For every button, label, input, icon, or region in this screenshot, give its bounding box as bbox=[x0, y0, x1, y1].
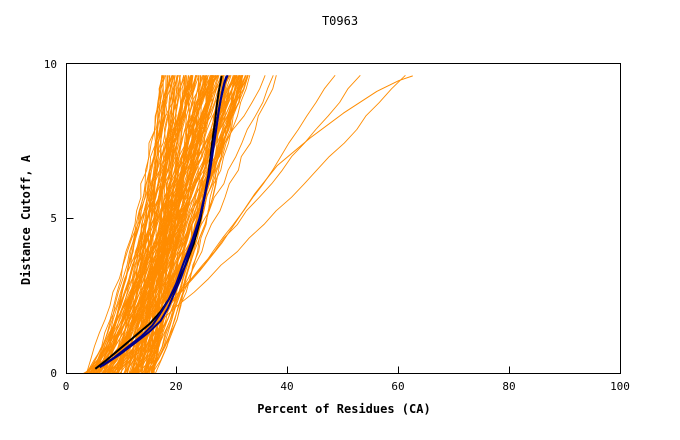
x-tick-0: 0 bbox=[63, 380, 70, 393]
y-tick-0: 0 bbox=[50, 367, 57, 380]
x-tick-40: 40 bbox=[280, 380, 293, 393]
x-tick-20: 20 bbox=[169, 380, 182, 393]
background-series-group bbox=[83, 75, 413, 373]
chart-root: T0963 Distance Cutoff, A Percent of Resi… bbox=[0, 0, 680, 440]
y-axis-label: Distance Cutoff, A bbox=[19, 154, 33, 285]
y-tick-5: 5 bbox=[50, 212, 57, 225]
x-tick-100: 100 bbox=[610, 380, 630, 393]
y-tick-10: 10 bbox=[44, 58, 57, 71]
plot-area: Distance Cutoff, A Percent of Residues (… bbox=[0, 0, 680, 440]
x-tick-60: 60 bbox=[391, 380, 404, 393]
x-axis-label: Percent of Residues (CA) bbox=[257, 402, 430, 416]
x-tick-80: 80 bbox=[502, 380, 515, 393]
